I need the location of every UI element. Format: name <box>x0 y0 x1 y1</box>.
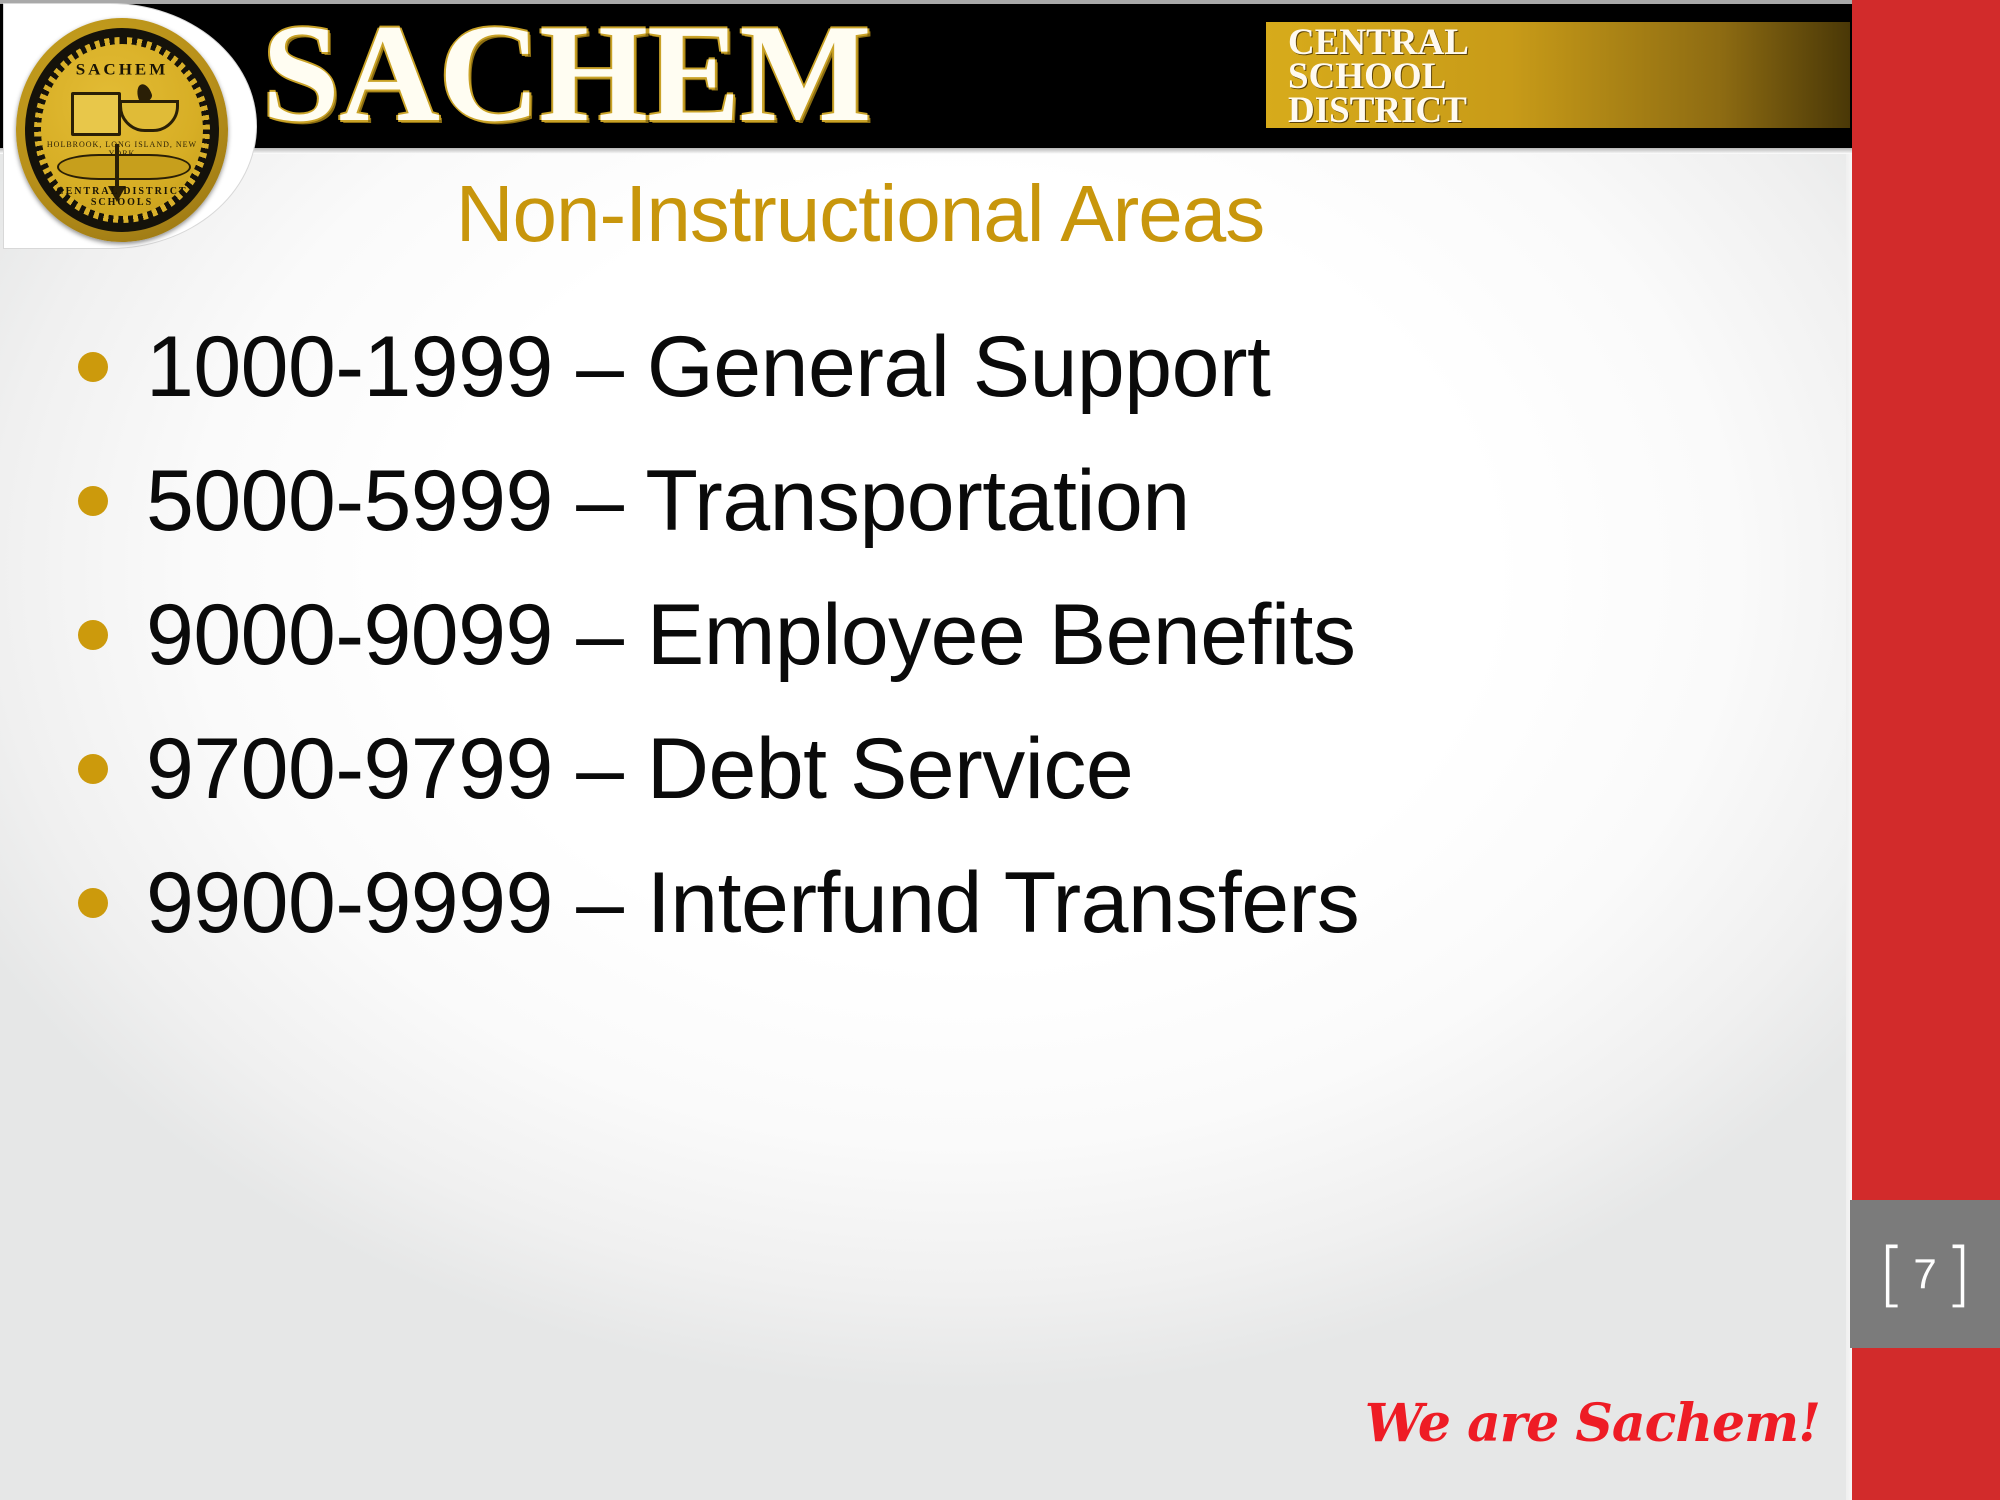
bullet-dot-icon <box>78 486 108 516</box>
seal-arc-bottom-text: CENTRAL DISTRICT SCHOOLS <box>41 186 203 208</box>
bullet-dot-icon <box>78 352 108 382</box>
list-item-label: 9900-9999 – Interfund Transfers <box>146 860 1359 946</box>
list-item-label: 1000-1999 – General Support <box>146 324 1270 410</box>
list-item: 9000-9099 – Employee Benefits <box>78 568 1818 702</box>
list-item: 1000-1999 – General Support <box>78 300 1818 434</box>
page-number-badge: [ 7 ] <box>1850 1200 2000 1348</box>
page-number: 7 <box>1913 1253 1936 1295</box>
list-item-label: 9700-9799 – Debt Service <box>146 726 1133 812</box>
bullet-list: 1000-1999 – General Support 5000-5999 – … <box>78 300 1818 970</box>
district-line-3: DISTRICT <box>1288 94 1850 128</box>
central-school-district-block: CENTRAL SCHOOL DISTRICT <box>1266 22 1850 128</box>
list-item: 5000-5999 – Transportation <box>78 434 1818 568</box>
sachem-wordmark: SACHEM <box>262 6 870 142</box>
list-item-label: 5000-5999 – Transportation <box>146 458 1190 544</box>
list-item: 9900-9999 – Interfund Transfers <box>78 836 1818 970</box>
list-item: 9700-9799 – Debt Service <box>78 702 1818 836</box>
seal-lamp-icon <box>119 100 179 132</box>
seal-banner-icon <box>57 154 191 180</box>
bullet-dot-icon <box>78 888 108 918</box>
bracket-left: [ <box>1878 1239 1905 1309</box>
bracket-right: ] <box>1945 1239 1972 1309</box>
bullet-dot-icon <box>78 754 108 784</box>
district-seal-icon: SACHEM HOLBROOK, LONG ISLAND, NEW YORK C… <box>16 18 228 242</box>
seal-face: SACHEM HOLBROOK, LONG ISLAND, NEW YORK C… <box>41 44 203 216</box>
district-line-2: SCHOOL <box>1288 60 1850 94</box>
seal-book-icon <box>71 92 121 136</box>
district-line-1: CENTRAL <box>1288 26 1850 60</box>
bullet-dot-icon <box>78 620 108 650</box>
seal-arc-top-text: SACHEM <box>41 61 203 79</box>
page-title: Non-Instructional Areas <box>260 168 1460 260</box>
footer-tagline: We are Sachem! <box>1365 1393 1820 1454</box>
slide-canvas: SACHEM HOLBROOK, LONG ISLAND, NEW YORK C… <box>0 0 2000 1500</box>
list-item-label: 9000-9099 – Employee Benefits <box>146 592 1355 678</box>
